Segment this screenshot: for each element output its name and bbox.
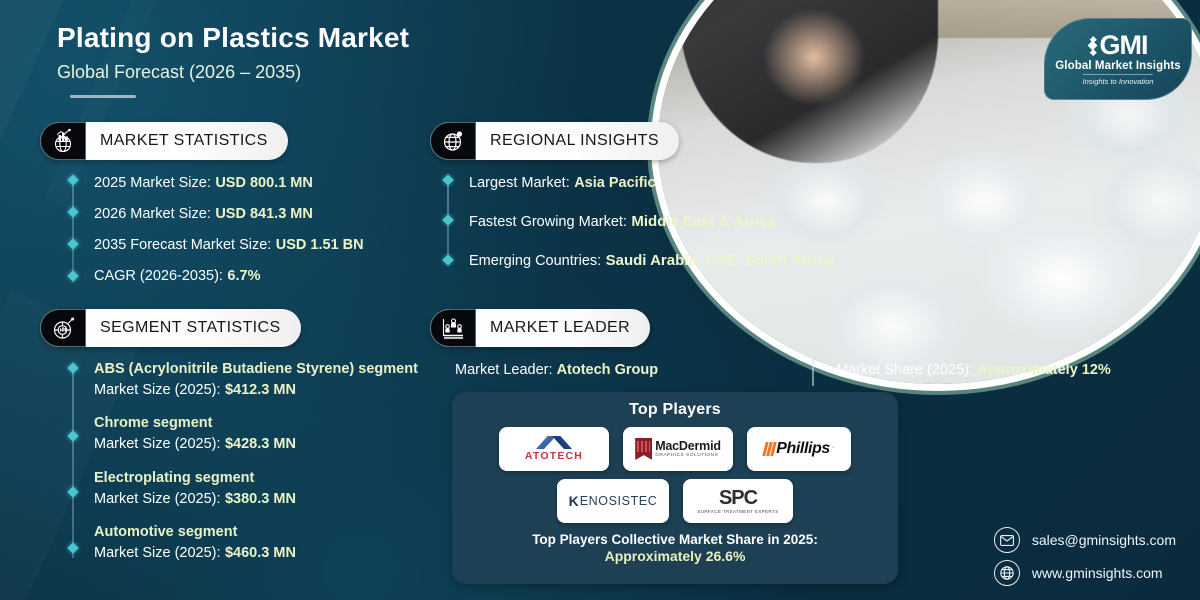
logo-card-macdermid: MacDermid GRAPHICS SOLUTIONS <box>623 427 733 471</box>
top-players-row-1: ATOTECH MacDermid GRAPHICS SOLUTIONS Phi… <box>452 427 898 471</box>
list-item: Fastest Growing Market: Middle East & Af… <box>447 211 857 232</box>
globe-pin-icon <box>430 122 476 160</box>
logo-text-macdermid: MacDermid <box>655 440 721 453</box>
stat-label: CAGR (2026-2035): <box>94 268 223 284</box>
segment-metric-label: Market Size (2025): <box>94 436 221 452</box>
segment-metric-label: Market Size (2025): <box>94 491 221 507</box>
region-value: Middle East & Africa <box>631 213 775 230</box>
region-label: Emerging Countries: <box>469 253 601 269</box>
stat-label: 2026 Market Size: <box>94 206 211 222</box>
contact-website-row[interactable]: www.gminsights.com <box>994 560 1176 586</box>
market-leader-value: Atotech Group <box>557 362 659 378</box>
segment-value: $412.3 MN <box>225 382 296 398</box>
logo-text-spc: SPC <box>719 489 757 508</box>
section-pill-market-statistics: MARKET STATISTICS <box>40 122 288 160</box>
segment-name: Chrome segment <box>94 414 432 433</box>
stat-label: 2035 Forecast Market Size: <box>94 237 271 253</box>
title-rule <box>70 95 136 98</box>
section-pill-segment-statistics: SEGMENT STATISTICS <box>40 309 301 347</box>
gmi-company-name: Global Market Insights <box>1055 60 1181 72</box>
logo-subtext-macdermid: GRAPHICS SOLUTIONS <box>655 454 721 459</box>
section-title-market-leader: MARKET LEADER <box>476 319 650 337</box>
contact-email[interactable]: sales@gminsights.com <box>1032 532 1176 548</box>
section-title-segment-statistics: SEGMENT STATISTICS <box>86 319 301 337</box>
list-item: Emerging Countries: Saudi Arabia, UAE, S… <box>447 250 857 271</box>
region-value: Asia Pacific <box>574 175 655 191</box>
segment-name: Automotive segment <box>94 523 432 542</box>
market-leader-label: Market Leader: <box>455 362 553 378</box>
globe-icon <box>994 560 1020 586</box>
list-item: Automotive segment Market Size (2025): $… <box>72 523 432 563</box>
segment-value: $380.3 MN <box>225 491 296 507</box>
podium-people-icon <box>430 309 476 347</box>
list-item: CAGR (2026-2035): 6.7% <box>72 265 412 286</box>
logo-card-atotech: ATOTECH <box>499 427 609 471</box>
list-item: Chrome segment Market Size (2025): $428.… <box>72 414 432 454</box>
collective-share-label: Top Players Collective Market Share in 2… <box>452 532 898 547</box>
segment-value: $428.3 MN <box>225 436 296 452</box>
stat-value: USD 800.1 MN <box>215 175 313 191</box>
section-title-regional-insights: REGIONAL INSIGHTS <box>476 132 679 150</box>
region-label: Largest Market: <box>469 175 570 191</box>
collective-share-value: Approximately 26.6% <box>452 548 898 564</box>
contact-website[interactable]: www.gminsights.com <box>1032 565 1163 581</box>
top-players-footer: Top Players Collective Market Share in 2… <box>452 532 898 564</box>
segment-value: $460.3 MN <box>225 545 296 561</box>
registered-mark: · <box>832 444 834 451</box>
infographic-canvas: GMI Global Market Insights Insights to I… <box>0 0 1200 600</box>
logo-text-atotech: ATOTECH <box>525 450 583 462</box>
stat-value: USD 841.3 MN <box>215 206 313 222</box>
vertical-divider <box>812 356 814 386</box>
market-share-value: Approximately 12% <box>977 362 1111 378</box>
photo-worker <box>680 0 938 163</box>
logo-text-kenosistec: ENOSISTEC <box>580 494 658 508</box>
list-item: 2035 Forecast Market Size: USD 1.51 BN <box>72 234 412 255</box>
kenosistec-k-icon: K <box>569 493 580 509</box>
market-leader-line: Market Leader: Atotech Group <box>455 362 658 378</box>
stat-value: USD 1.51 BN <box>276 237 364 253</box>
gmi-logo: GMI Global Market Insights Insights to I… <box>1044 18 1192 100</box>
phillips-bars-icon <box>762 442 776 456</box>
gmi-letters: GMI <box>1100 32 1148 59</box>
pie-chart-icon <box>40 309 86 347</box>
gmi-tagline: Insights to Innovation <box>1083 74 1154 86</box>
top-players-title: Top Players <box>452 401 898 419</box>
top-players-panel: Top Players ATOTECH MacDermid GRAPHICS S… <box>452 392 898 584</box>
segment-name: Electroplating segment <box>94 469 432 488</box>
page-title: Plating on Plastics Market <box>57 22 409 54</box>
list-item: Electroplating segment Market Size (2025… <box>72 469 432 509</box>
list-item: 2026 Market Size: USD 841.3 MN <box>72 203 412 224</box>
logo-card-kenosistec: K ENOSISTEC <box>557 479 669 523</box>
list-item: Largest Market: Asia Pacific <box>447 172 857 193</box>
market-share-label: Market Share (2025): <box>836 362 973 378</box>
section-pill-regional-insights: REGIONAL INSIGHTS <box>430 122 679 160</box>
contact-email-row[interactable]: sales@gminsights.com <box>994 527 1176 553</box>
page-subtitle: Global Forecast (2026 – 2035) <box>57 62 301 83</box>
macdermid-banner-icon <box>635 438 652 460</box>
logo-card-phillips: Phillips · <box>747 427 851 471</box>
list-item: 2025 Market Size: USD 800.1 MN <box>72 172 412 193</box>
logo-subtext-spc: SURFACE TREATMENT EXPERTS <box>697 509 778 514</box>
region-value: Saudi Arabia, UAE, South Africa <box>606 252 834 269</box>
region-label: Fastest Growing Market: <box>469 214 627 230</box>
list-item: ABS (Acrylonitrile Butadiene Styrene) se… <box>72 360 432 400</box>
stat-label: 2025 Market Size: <box>94 175 211 191</box>
envelope-icon <box>994 527 1020 553</box>
segment-name: ABS (Acrylonitrile Butadiene Styrene) se… <box>94 360 432 379</box>
market-statistics-list: 2025 Market Size: USD 800.1 MN 2026 Mark… <box>72 172 412 297</box>
gmi-logo-mark: GMI <box>1089 32 1148 59</box>
segment-statistics-list: ABS (Acrylonitrile Butadiene Styrene) se… <box>72 360 432 573</box>
top-players-row-2: K ENOSISTEC SPC SURFACE TREATMENT EXPERT… <box>452 479 898 523</box>
logo-text-phillips: Phillips <box>776 440 830 458</box>
segment-metric-label: Market Size (2025): <box>94 545 221 561</box>
section-pill-market-leader: MARKET LEADER <box>430 309 650 347</box>
diamond-icon <box>1089 37 1096 55</box>
regional-insights-list: Largest Market: Asia Pacific Fastest Gro… <box>447 172 857 281</box>
stat-value: 6.7% <box>227 268 260 284</box>
market-share-line: Market Share (2025): Approximately 12% <box>836 362 1111 378</box>
section-title-market-statistics: MARKET STATISTICS <box>86 132 288 150</box>
logo-card-spc: SPC SURFACE TREATMENT EXPERTS <box>683 479 793 523</box>
globe-bar-chart-icon <box>40 122 86 160</box>
atotech-chevron-icon <box>536 436 572 449</box>
segment-metric-label: Market Size (2025): <box>94 382 221 398</box>
contact-block: sales@gminsights.com www.gminsights.com <box>994 527 1176 586</box>
